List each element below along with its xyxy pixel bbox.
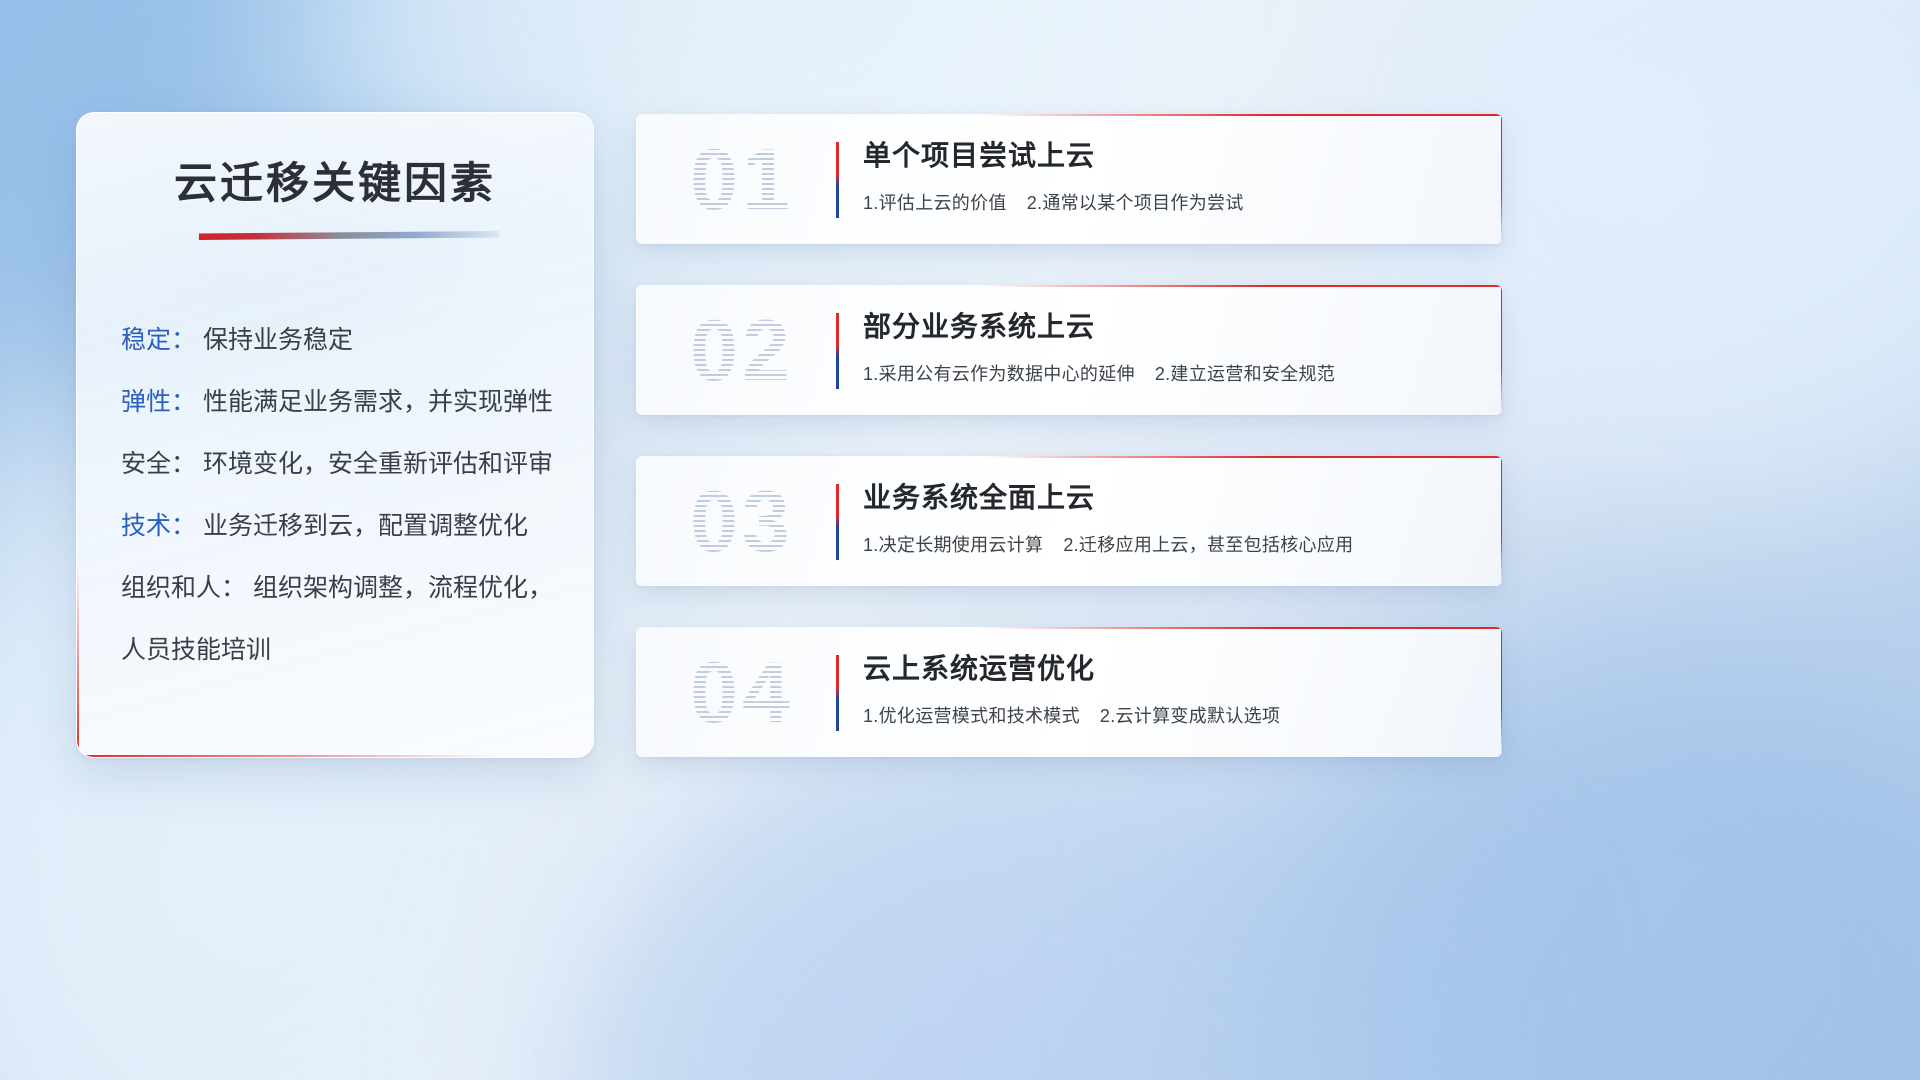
stage-description-part-1: 1.评估上云的价值 bbox=[863, 193, 1007, 213]
stage-description: 1.采用公有云作为数据中心的延伸2.建立运营和安全规范 bbox=[863, 361, 1478, 387]
list-item-key: 安全： bbox=[121, 450, 196, 478]
list-item-value: 业务迁移到云，配置调整优化 bbox=[203, 512, 528, 540]
list-item: 人员技能培训 bbox=[121, 619, 567, 681]
title-underline-rule bbox=[199, 231, 499, 240]
card-right-hairline bbox=[1501, 114, 1503, 244]
list-item-value: 人员技能培训 bbox=[121, 636, 271, 664]
card-top-hairline bbox=[982, 627, 1502, 629]
stage-card-01[interactable]: 01 单个项目尝试上云 1.评估上云的价值2.通常以某个项目作为尝试 bbox=[636, 114, 1502, 244]
list-item: 弹性： 性能满足业务需求，并实现弹性 bbox=[121, 371, 567, 433]
stage-text-block: 部分业务系统上云 1.采用公有云作为数据中心的延伸2.建立运营和安全规范 bbox=[863, 307, 1478, 387]
stage-description: 1.评估上云的价值2.通常以某个项目作为尝试 bbox=[863, 190, 1478, 216]
key-factors-list: 稳定： 保持业务稳定 弹性： 性能满足业务需求，并实现弹性 安全： 环境变化，安… bbox=[121, 309, 567, 681]
list-item-key: 弹性： bbox=[121, 388, 196, 416]
stage-card-03[interactable]: 03 业务系统全面上云 1.决定长期使用云计算2.迁移应用上云，甚至包括核心应用 bbox=[636, 456, 1502, 586]
stage-title: 部分业务系统上云 bbox=[863, 307, 1478, 347]
stage-divider-bar bbox=[836, 484, 839, 560]
slide-canvas: 云迁移关键因素 稳定： 保持业务稳定 弹性： 性能满足业务需求，并实现弹性 安全… bbox=[0, 0, 1920, 1080]
stage-title: 云上系统运营优化 bbox=[863, 649, 1478, 689]
stage-title: 单个项目尝试上云 bbox=[863, 136, 1478, 176]
list-item-value: 组织架构调整，流程优化， bbox=[253, 574, 553, 602]
stage-title: 业务系统全面上云 bbox=[863, 478, 1478, 518]
stage-description: 1.决定长期使用云计算2.迁移应用上云，甚至包括核心应用 bbox=[863, 532, 1478, 558]
stage-text-block: 业务系统全面上云 1.决定长期使用云计算2.迁移应用上云，甚至包括核心应用 bbox=[863, 478, 1478, 558]
stage-divider-bar bbox=[836, 655, 839, 731]
stage-text-block: 云上系统运营优化 1.优化运营模式和技术模式2.云计算变成默认选项 bbox=[863, 649, 1478, 729]
stage-divider-bar bbox=[836, 142, 839, 218]
stage-description: 1.优化运营模式和技术模式2.云计算变成默认选项 bbox=[863, 703, 1478, 729]
stage-number-glyph: 01 bbox=[662, 128, 822, 232]
stage-description-part-1: 1.优化运营模式和技术模式 bbox=[863, 706, 1080, 726]
card-top-hairline bbox=[982, 285, 1502, 287]
stage-description-part-1: 1.采用公有云作为数据中心的延伸 bbox=[863, 364, 1135, 384]
stage-description-part-2: 2.通常以某个项目作为尝试 bbox=[1027, 193, 1244, 213]
stage-divider-bar bbox=[836, 313, 839, 389]
list-item-key: 技术： bbox=[121, 512, 196, 540]
stage-card-02[interactable]: 02 部分业务系统上云 1.采用公有云作为数据中心的延伸2.建立运营和安全规范 bbox=[636, 285, 1502, 415]
list-item-value: 环境变化，安全重新评估和评审 bbox=[203, 450, 553, 478]
card-top-hairline bbox=[982, 456, 1502, 458]
card-right-hairline bbox=[1501, 456, 1503, 586]
stage-description-part-2: 2.云计算变成默认选项 bbox=[1100, 706, 1280, 726]
card-accent-left-edge bbox=[77, 567, 79, 757]
stage-number-glyph: 04 bbox=[662, 641, 822, 745]
list-item: 技术： 业务迁移到云，配置调整优化 bbox=[121, 495, 567, 557]
key-factors-card: 云迁移关键因素 稳定： 保持业务稳定 弹性： 性能满足业务需求，并实现弹性 安全… bbox=[76, 112, 594, 758]
list-item-value: 性能满足业务需求，并实现弹性 bbox=[203, 388, 553, 416]
list-item-key: 组织和人： bbox=[121, 574, 246, 602]
page-title: 云迁移关键因素 bbox=[77, 113, 593, 211]
migration-stages-list: 01 单个项目尝试上云 1.评估上云的价值2.通常以某个项目作为尝试 02 部分… bbox=[636, 114, 1502, 798]
list-item: 组织和人： 组织架构调整，流程优化， bbox=[121, 557, 567, 619]
card-accent-bottom-edge bbox=[77, 755, 497, 757]
list-item: 安全： 环境变化，安全重新评估和评审 bbox=[121, 433, 567, 495]
stage-card-04[interactable]: 04 云上系统运营优化 1.优化运营模式和技术模式2.云计算变成默认选项 bbox=[636, 627, 1502, 757]
card-left-highlight bbox=[636, 114, 637, 244]
stage-description-part-2: 2.迁移应用上云，甚至包括核心应用 bbox=[1063, 535, 1353, 555]
card-left-highlight bbox=[636, 456, 637, 586]
card-right-hairline bbox=[1501, 627, 1503, 757]
list-item-key: 稳定： bbox=[121, 326, 196, 354]
stage-description-part-1: 1.决定长期使用云计算 bbox=[863, 535, 1043, 555]
stage-number-glyph: 03 bbox=[662, 470, 822, 574]
card-right-hairline bbox=[1501, 285, 1503, 415]
list-item-value: 保持业务稳定 bbox=[203, 326, 353, 354]
stage-text-block: 单个项目尝试上云 1.评估上云的价值2.通常以某个项目作为尝试 bbox=[863, 136, 1478, 216]
card-left-highlight bbox=[636, 627, 637, 757]
stage-description-part-2: 2.建立运营和安全规范 bbox=[1155, 364, 1335, 384]
card-top-hairline bbox=[982, 114, 1502, 116]
list-item: 稳定： 保持业务稳定 bbox=[121, 309, 567, 371]
card-left-highlight bbox=[636, 285, 637, 415]
stage-number-glyph: 02 bbox=[662, 299, 822, 403]
